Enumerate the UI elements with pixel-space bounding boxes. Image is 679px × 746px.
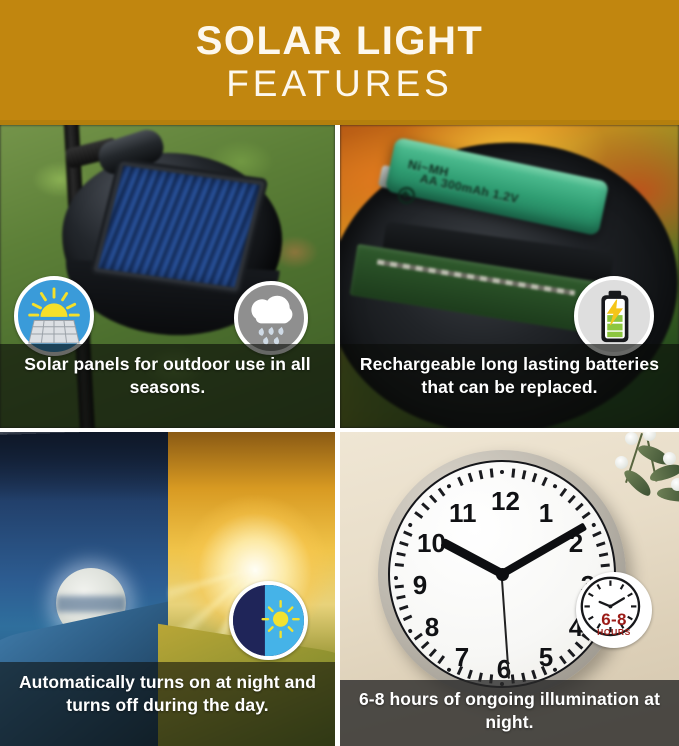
clock-numeral-7: 7 — [449, 644, 475, 670]
feature-panel-auto-dusk-to-dawn[interactable]: Automatically turns on at night and turn… — [0, 432, 335, 746]
feature-panel-solar-panels[interactable]: Solar panels for outdoor use in all seas… — [0, 125, 335, 428]
photovoltaic-cell-shape — [93, 161, 265, 292]
page-header: SOLAR LIGHT FEATURES — [0, 0, 679, 125]
wall-clock-face: 12 1 2 3 4 5 6 7 8 9 10 11 — [388, 460, 616, 688]
feature-grid: Solar panels for outdoor use in all seas… — [0, 125, 679, 746]
panel-caption: 6-8 hours of ongoing illumination at nig… — [340, 680, 679, 746]
clock-numeral-12: 12 — [491, 488, 517, 514]
panel-caption: Automatically turns on at night and turn… — [0, 662, 335, 746]
wall-clock-body: 12 1 2 3 4 5 6 7 8 9 10 11 — [378, 450, 626, 698]
feature-panel-runtime-hours[interactable]: 12 1 2 3 4 5 6 7 8 9 10 11 — [340, 432, 679, 746]
clock-numeral-10: 10 — [417, 530, 443, 556]
day-night-icon — [229, 581, 308, 660]
clock-numeral-11: 11 — [449, 500, 475, 526]
solar-light-features-infographic: SOLAR LIGHT FEATURES — [0, 0, 679, 746]
clock-numeral-8: 8 — [419, 614, 445, 640]
page-title-primary: SOLAR LIGHT — [196, 20, 484, 62]
page-title-secondary: FEATURES — [226, 64, 453, 105]
clock-center-cap — [496, 568, 509, 581]
clock-numeral-1: 1 — [533, 500, 559, 526]
hours-clock-icon: 6-8 HOURS — [576, 572, 652, 648]
clock-numeral-5: 5 — [533, 644, 559, 670]
panel-caption: Solar panels for outdoor use in all seas… — [0, 344, 335, 428]
clock-numeral-6: 6 — [491, 656, 517, 682]
feature-panel-rechargeable-batteries[interactable]: Ni~MH AA 300mAh 1.2V Rechargeable long l… — [340, 125, 679, 428]
clock-numeral-9: 9 — [407, 572, 433, 598]
hours-badge-value: 6-8 — [580, 611, 648, 628]
panel-caption: Rechargeable long lasting batteries that… — [340, 344, 679, 428]
clock-hour-hand — [440, 538, 504, 578]
hours-badge-unit: HOURS — [580, 627, 648, 637]
